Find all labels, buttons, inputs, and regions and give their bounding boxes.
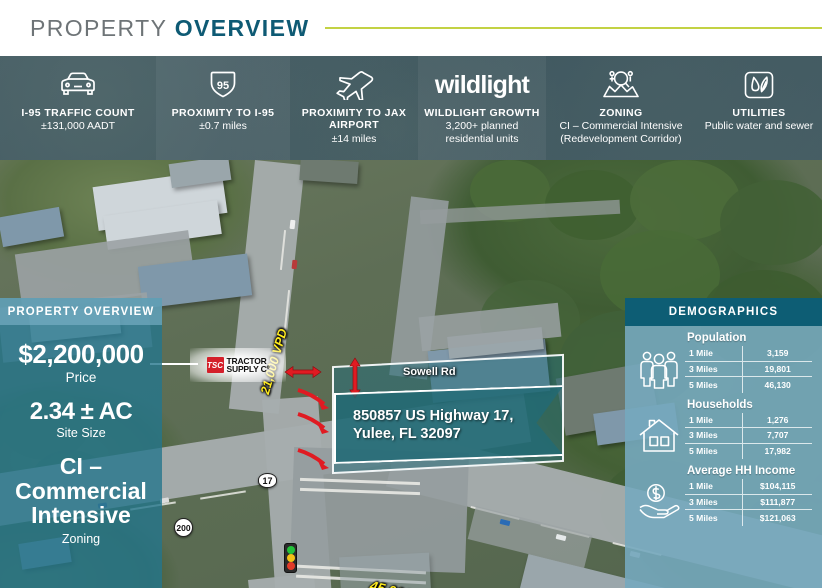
table-row: 3 Miles $111,877 bbox=[685, 495, 812, 511]
radius-label: 5 Miles bbox=[685, 377, 743, 393]
svg-text:95: 95 bbox=[217, 80, 229, 92]
demographics-section-households: Households 1 Mile bbox=[633, 399, 812, 460]
feature-title: UTILITIES bbox=[732, 107, 785, 119]
radius-value: 3,159 bbox=[743, 348, 812, 358]
page-title-light: PROPERTY bbox=[30, 15, 167, 41]
address-line-1: 850857 US Highway 17, bbox=[353, 408, 513, 424]
interstate-shield-95-icon: 95 bbox=[207, 66, 239, 104]
demographics-section-income: Average HH Income 1 Mile bbox=[633, 465, 812, 526]
feature-subtitle: Public water and sewer bbox=[705, 120, 814, 133]
feature-subtitle: ±14 miles bbox=[332, 133, 377, 146]
feature-title: WILDLIGHT GROWTH bbox=[424, 107, 539, 119]
table-row: 5 Miles 17,982 bbox=[685, 444, 812, 460]
traffic-light-icon bbox=[284, 543, 297, 573]
table-row: 3 Miles 19,801 bbox=[685, 362, 812, 378]
feature-subtitle: ±0.7 miles bbox=[199, 120, 247, 133]
radius-value: 17,982 bbox=[743, 446, 812, 456]
radius-label: 1 Mile bbox=[685, 346, 743, 361]
site-size-label: Site Size bbox=[30, 426, 133, 440]
radius-label: 1 Mile bbox=[685, 413, 743, 428]
zoning-map-icon bbox=[601, 66, 641, 104]
route-marker-200-west: 200 bbox=[174, 518, 193, 537]
demographics-heading: DEMOGRAPHICS bbox=[625, 298, 822, 326]
tsc-mark-icon: TSC bbox=[207, 357, 224, 373]
page-title-bold: OVERVIEW bbox=[175, 15, 310, 41]
radius-value: 7,707 bbox=[743, 430, 812, 440]
site-size-value: 2.34 ± AC bbox=[30, 399, 133, 424]
hand-dollar-icon bbox=[633, 481, 685, 523]
radius-value: $104,115 bbox=[743, 481, 812, 491]
feature-title: PROXIMITY TO I-95 bbox=[172, 107, 275, 119]
feature-title: I-95 TRAFFIC COUNT bbox=[21, 107, 134, 119]
table-row: 5 Miles 46,130 bbox=[685, 377, 812, 393]
radius-label: 5 Miles bbox=[685, 510, 743, 526]
route-marker-17: 17 bbox=[258, 473, 277, 488]
address-callout-banner: 850857 US Highway 17, Yulee, FL 32097 bbox=[334, 385, 564, 464]
section-title: Population bbox=[687, 332, 812, 344]
signal-green bbox=[287, 546, 295, 554]
feature-traffic-count: I-95 TRAFFIC COUNT ±131,000 AADT bbox=[0, 56, 156, 160]
page-header: PROPERTY OVERVIEW bbox=[0, 0, 822, 56]
airplane-icon bbox=[333, 66, 375, 104]
demographics-body: Population 1 Mi bbox=[625, 326, 822, 588]
access-arrow-curved-2 bbox=[296, 412, 330, 443]
zoning-label: Zoning bbox=[0, 532, 162, 546]
radius-value: 19,801 bbox=[743, 364, 812, 374]
radius-label: 5 Miles bbox=[685, 444, 743, 460]
demographics-section-population: Population 1 Mi bbox=[633, 332, 812, 393]
street-label-sowell-rd: Sowell Rd bbox=[403, 366, 456, 378]
address-callout-text: 850857 US Highway 17, Yulee, FL 32097 bbox=[336, 408, 513, 443]
wildlight-logo-icon: wildlight bbox=[435, 66, 529, 104]
section-title: Households bbox=[687, 399, 812, 411]
water-drop-leaf-icon bbox=[742, 66, 776, 104]
address-line-2: Yulee, FL 32097 bbox=[353, 425, 461, 441]
households-table: 1 Mile 1,276 3 Miles 7,707 5 Miles 17,98… bbox=[685, 413, 812, 460]
signal-red bbox=[287, 562, 295, 570]
wildlight-wordmark: wildlight bbox=[435, 66, 529, 104]
site-size-block: 2.34 ± AC Site Size bbox=[30, 399, 133, 440]
radius-label: 3 Miles bbox=[685, 495, 743, 510]
tsc-wordmark: TRACTOR SUPPLY Cº bbox=[227, 357, 270, 374]
property-overview-panel-body: $2,200,000 Price 2.34 ± AC Site Size CI … bbox=[0, 325, 162, 588]
feature-highlights-strip: I-95 TRAFFIC COUNT ±131,000 AADT 95 PROX… bbox=[0, 56, 822, 160]
feature-subtitle: 3,200+ planned residential units bbox=[424, 120, 540, 146]
table-row: 1 Mile 3,159 bbox=[685, 346, 812, 362]
radius-label: 1 Mile bbox=[685, 479, 743, 494]
feature-proximity-airport: PROXIMITY TO JAX AIRPORT ±14 miles bbox=[290, 56, 418, 160]
table-row: 1 Mile 1,276 bbox=[685, 413, 812, 429]
house-icon bbox=[633, 416, 685, 456]
price-value: $2,200,000 bbox=[18, 341, 143, 368]
radius-value: 46,130 bbox=[743, 380, 812, 390]
tractor-supply-logo: TSC TRACTOR SUPPLY Cº bbox=[190, 348, 286, 382]
signal-yellow bbox=[287, 554, 295, 562]
feature-wildlight-growth: wildlight WILDLIGHT GROWTH 3,200+ planne… bbox=[418, 56, 546, 160]
people-group-icon bbox=[633, 348, 685, 390]
tree-canopy bbox=[720, 180, 822, 265]
feature-utilities: UTILITIES Public water and sewer bbox=[696, 56, 822, 160]
property-overview-panel: PROPERTY OVERVIEW $2,200,000 Price 2.34 … bbox=[0, 298, 162, 588]
price-block: $2,200,000 Price bbox=[18, 341, 143, 385]
tsc-line2: SUPPLY Cº bbox=[227, 364, 270, 374]
property-flyer-page: PROPERTY OVERVIEW I-95 TRAFFIC COUNT ±13… bbox=[0, 0, 822, 588]
table-row: 1 Mile $104,115 bbox=[685, 479, 812, 495]
table-row: 3 Miles 7,707 bbox=[685, 428, 812, 444]
feature-subtitle: CI – Commercial Intensive (Redevelopment… bbox=[552, 120, 690, 146]
section-title: Average HH Income bbox=[687, 465, 812, 477]
radius-value: $111,877 bbox=[743, 497, 812, 507]
page-title: PROPERTY OVERVIEW bbox=[30, 15, 309, 42]
feature-title: PROXIMITY TO JAX AIRPORT bbox=[296, 107, 412, 132]
income-table: 1 Mile $104,115 3 Miles $111,877 5 Miles… bbox=[685, 479, 812, 526]
feature-zoning: ZONING CI – Commercial Intensive (Redeve… bbox=[546, 56, 696, 160]
radius-label: 3 Miles bbox=[685, 362, 743, 377]
demographics-panel: DEMOGRAPHICS Population bbox=[625, 298, 822, 588]
vehicle bbox=[292, 260, 298, 269]
access-arrow-horizontal bbox=[283, 365, 323, 384]
access-arrow-curved-3 bbox=[296, 448, 330, 479]
title-divider-rule bbox=[325, 27, 822, 29]
radius-label: 3 Miles bbox=[685, 428, 743, 443]
property-overview-panel-heading: PROPERTY OVERVIEW bbox=[0, 298, 162, 325]
radius-value: $121,063 bbox=[743, 513, 812, 523]
feature-title: ZONING bbox=[599, 107, 642, 119]
feature-proximity-i95: 95 PROXIMITY TO I-95 ±0.7 miles bbox=[156, 56, 290, 160]
vehicle bbox=[290, 220, 296, 229]
car-icon bbox=[57, 66, 99, 104]
feature-subtitle: ±131,000 AADT bbox=[41, 120, 115, 133]
price-label: Price bbox=[18, 370, 143, 385]
zoning-value: CI – Commercial Intensive bbox=[0, 454, 162, 527]
table-row: 5 Miles $121,063 bbox=[685, 510, 812, 526]
building bbox=[299, 160, 358, 184]
population-table: 1 Mile 3,159 3 Miles 19,801 5 Miles 46,1… bbox=[685, 346, 812, 393]
radius-value: 1,276 bbox=[743, 415, 812, 425]
zoning-block: CI – Commercial Intensive Zoning bbox=[0, 454, 162, 545]
